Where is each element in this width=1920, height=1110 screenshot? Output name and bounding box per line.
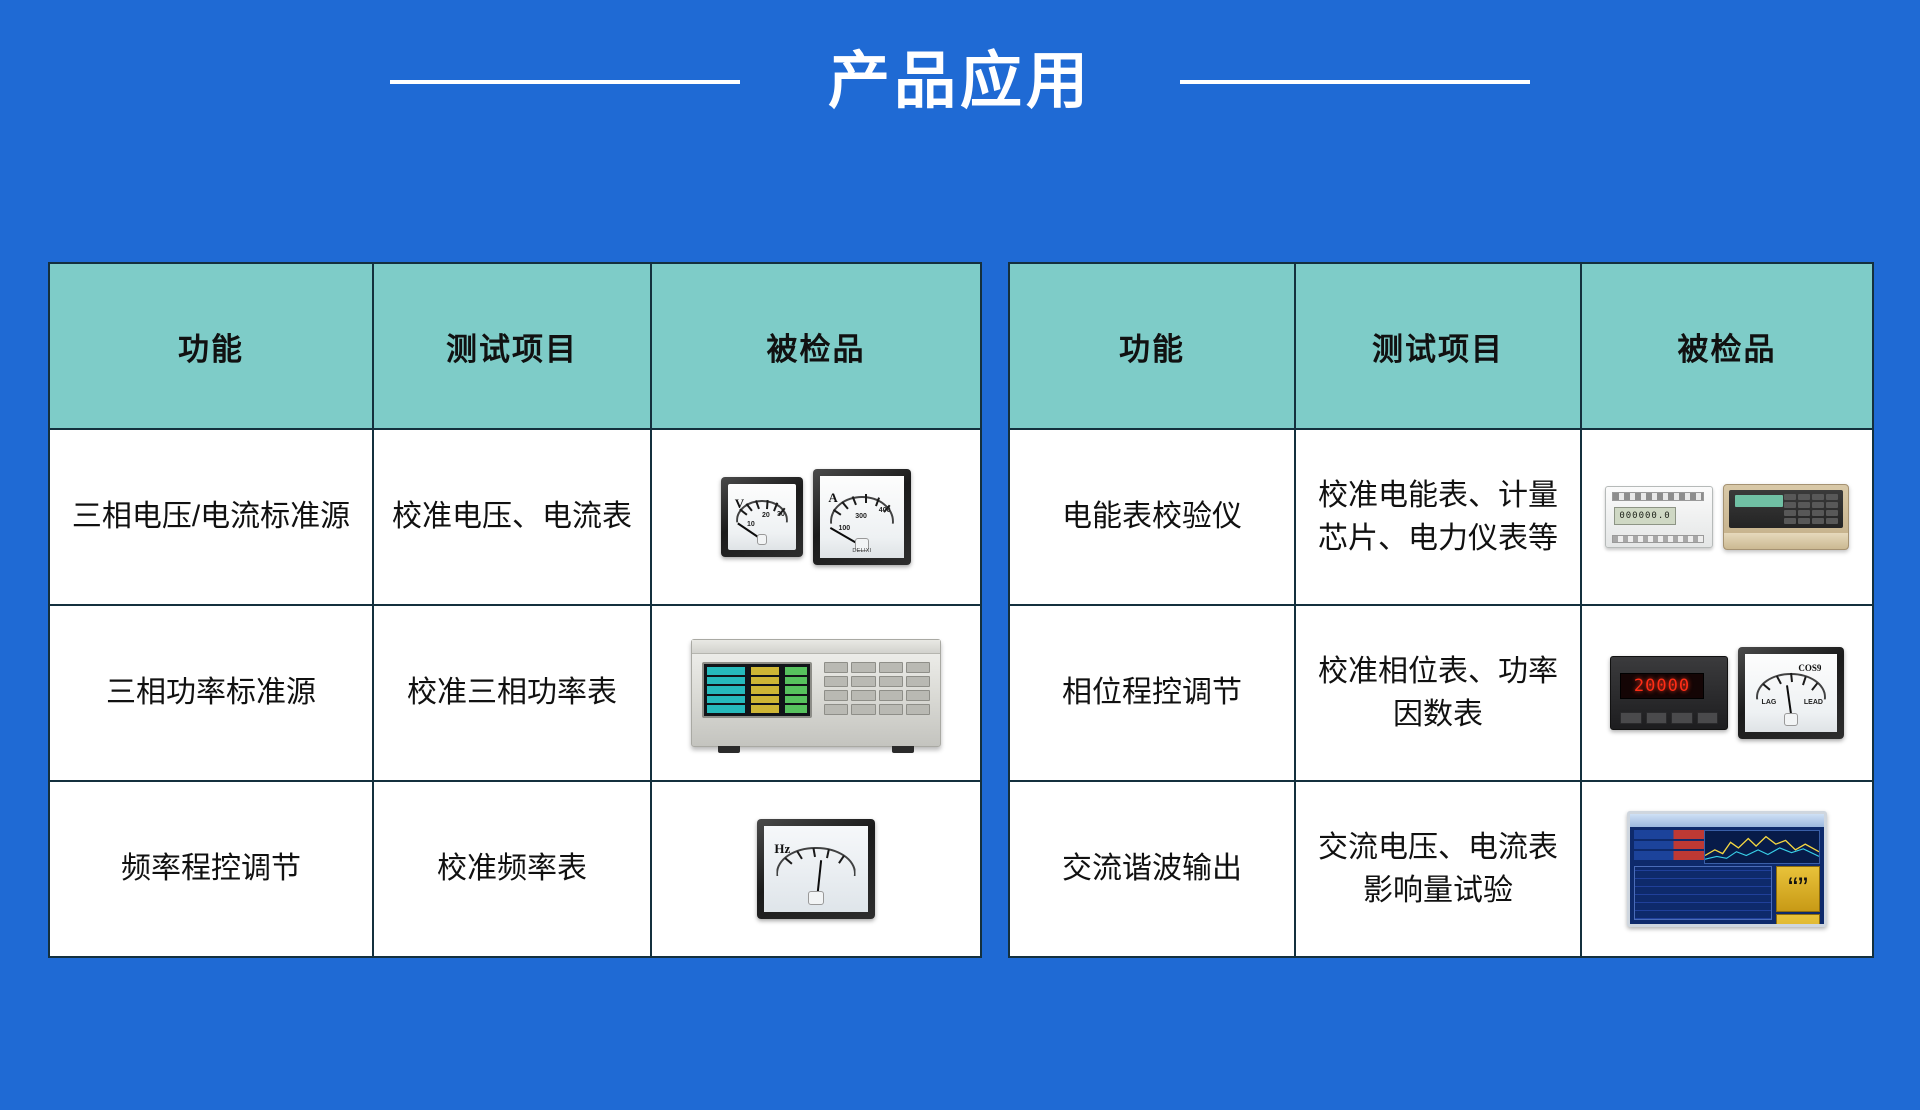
specimen-image-group [658, 639, 974, 747]
specimen-image-group [1588, 811, 1866, 927]
tables-container: 功能 测试项目 被检品 三相电压/电流标准源 校准电压、电流表 [48, 262, 1872, 958]
led-display-value: 20000 [1620, 673, 1704, 699]
cell-function: 三相功率标准源 [49, 605, 373, 781]
din-rail-energy-meter-icon: 000000.0 [1605, 486, 1713, 548]
voltmeter-scale-20: 20 [762, 511, 770, 521]
test-item-text: 校准相位表、功率因数表 [1308, 650, 1568, 737]
cell-specimen: 000000.0 [1581, 429, 1873, 605]
cell-specimen [651, 605, 981, 781]
table-row: 三相功率标准源 校准三相功率表 [49, 605, 981, 781]
test-item-text: 校准三相功率表 [386, 671, 638, 715]
cell-test-item: 校准三相功率表 [373, 605, 651, 781]
ammeter-scale-400: 400 [879, 506, 891, 516]
column-header-test-item: 测试项目 [1295, 263, 1581, 429]
ammeter-scale-300: 300 [855, 512, 867, 522]
cell-function: 三相电压/电流标准源 [49, 429, 373, 605]
cell-test-item: 校准电压、电流表 [373, 429, 651, 605]
test-item-text: 交流电压、电流表影响量试验 [1308, 826, 1568, 913]
table-header-row: 功能 测试项目 被检品 [49, 263, 981, 429]
specimen-image-group: Hz [658, 819, 974, 919]
table-row: 电能表校验仪 校准电能表、计量芯片、电力仪表等 000000.0 [1009, 429, 1873, 605]
cell-test-item: 校准电能表、计量芯片、电力仪表等 [1295, 429, 1581, 605]
power-factor-scale-lead: LEAD [1804, 698, 1823, 708]
table-row: 交流谐波输出 交流电压、电流表影响量试验 [1009, 781, 1873, 957]
function-text: 频率程控调节 [62, 847, 360, 891]
right-table-wrapper: 功能 测试项目 被检品 电能表校验仪 校准电能表、计量芯片、电力仪表等 [1008, 262, 1872, 958]
cell-specimen [1581, 781, 1873, 957]
function-text: 电能表校验仪 [1022, 495, 1282, 539]
left-application-table: 功能 测试项目 被检品 三相电压/电流标准源 校准电压、电流表 [48, 262, 982, 958]
analog-voltmeter-panel-icon: V 10 20 [721, 477, 803, 557]
ammeter-brand-label: DELIXI [852, 548, 871, 556]
specimen-image-group: 20000 COS9 [1588, 647, 1866, 739]
cell-function: 相位程控调节 [1009, 605, 1295, 781]
cell-function: 电能表校验仪 [1009, 429, 1295, 605]
cell-test-item: 校准频率表 [373, 781, 651, 957]
analog-ammeter-panel-icon: A 300 400 [813, 469, 911, 565]
red-led-digital-panel-meter-icon: 20000 [1610, 656, 1728, 730]
cell-test-item: 校准相位表、功率因数表 [1295, 605, 1581, 781]
cell-test-item: 交流电压、电流表影响量试验 [1295, 781, 1581, 957]
voltmeter-scale-30: 30 [777, 510, 785, 520]
analog-power-factor-meter-icon: COS9 LAG LEAD [1738, 647, 1844, 739]
column-header-specimen: 被检品 [1581, 263, 1873, 429]
harmonic-analysis-software-screen-icon [1627, 811, 1827, 927]
title-rule-left-icon [390, 80, 740, 84]
table-row: 频率程控调节 校准频率表 Hz [49, 781, 981, 957]
title-rule-right-icon [1180, 80, 1530, 84]
test-item-text: 校准频率表 [386, 847, 638, 891]
column-header-function: 功能 [49, 263, 373, 429]
cell-specimen: 20000 COS9 [1581, 605, 1873, 781]
column-header-specimen: 被检品 [651, 263, 981, 429]
function-text: 三相电压/电流标准源 [62, 495, 360, 539]
table-row: 相位程控调节 校准相位表、功率因数表 20000 [1009, 605, 1873, 781]
table-row: 三相电压/电流标准源 校准电压、电流表 V [49, 429, 981, 605]
table-header-row: 功能 测试项目 被检品 [1009, 263, 1873, 429]
specimen-image-group: 000000.0 [1588, 484, 1866, 550]
function-text: 交流谐波输出 [1022, 847, 1282, 891]
cell-specimen: V 10 20 [651, 429, 981, 605]
test-item-text: 校准电能表、计量芯片、电力仪表等 [1308, 474, 1568, 561]
power-factor-unit-label: COS9 [1798, 662, 1821, 675]
page-title-row: 产品应用 [0, 48, 1920, 116]
page-title: 产品应用 [828, 48, 1092, 116]
beige-bench-calibrator-icon [1723, 484, 1849, 550]
energy-meter-lcd-value: 000000.0 [1614, 507, 1676, 525]
cell-function: 交流谐波输出 [1009, 781, 1295, 957]
cell-function: 频率程控调节 [49, 781, 373, 957]
column-header-test-item: 测试项目 [373, 263, 651, 429]
test-item-text: 校准电压、电流表 [386, 495, 638, 539]
cell-specimen: Hz [651, 781, 981, 957]
column-header-function: 功能 [1009, 263, 1295, 429]
power-factor-scale-lag: LAG [1762, 698, 1777, 708]
product-application-page: 产品应用 功能 测试项目 被检品 三相电压/电流 [0, 0, 1920, 1110]
function-text: 相位程控调节 [1022, 671, 1282, 715]
specimen-image-group: V 10 20 [658, 469, 974, 565]
right-application-table: 功能 测试项目 被检品 电能表校验仪 校准电能表、计量芯片、电力仪表等 [1008, 262, 1874, 958]
analog-frequency-meter-panel-icon: Hz [757, 819, 875, 919]
left-table-wrapper: 功能 测试项目 被检品 三相电压/电流标准源 校准电压、电流表 [48, 262, 980, 958]
three-phase-power-analyzer-icon [691, 639, 941, 747]
function-text: 三相功率标准源 [62, 671, 360, 715]
